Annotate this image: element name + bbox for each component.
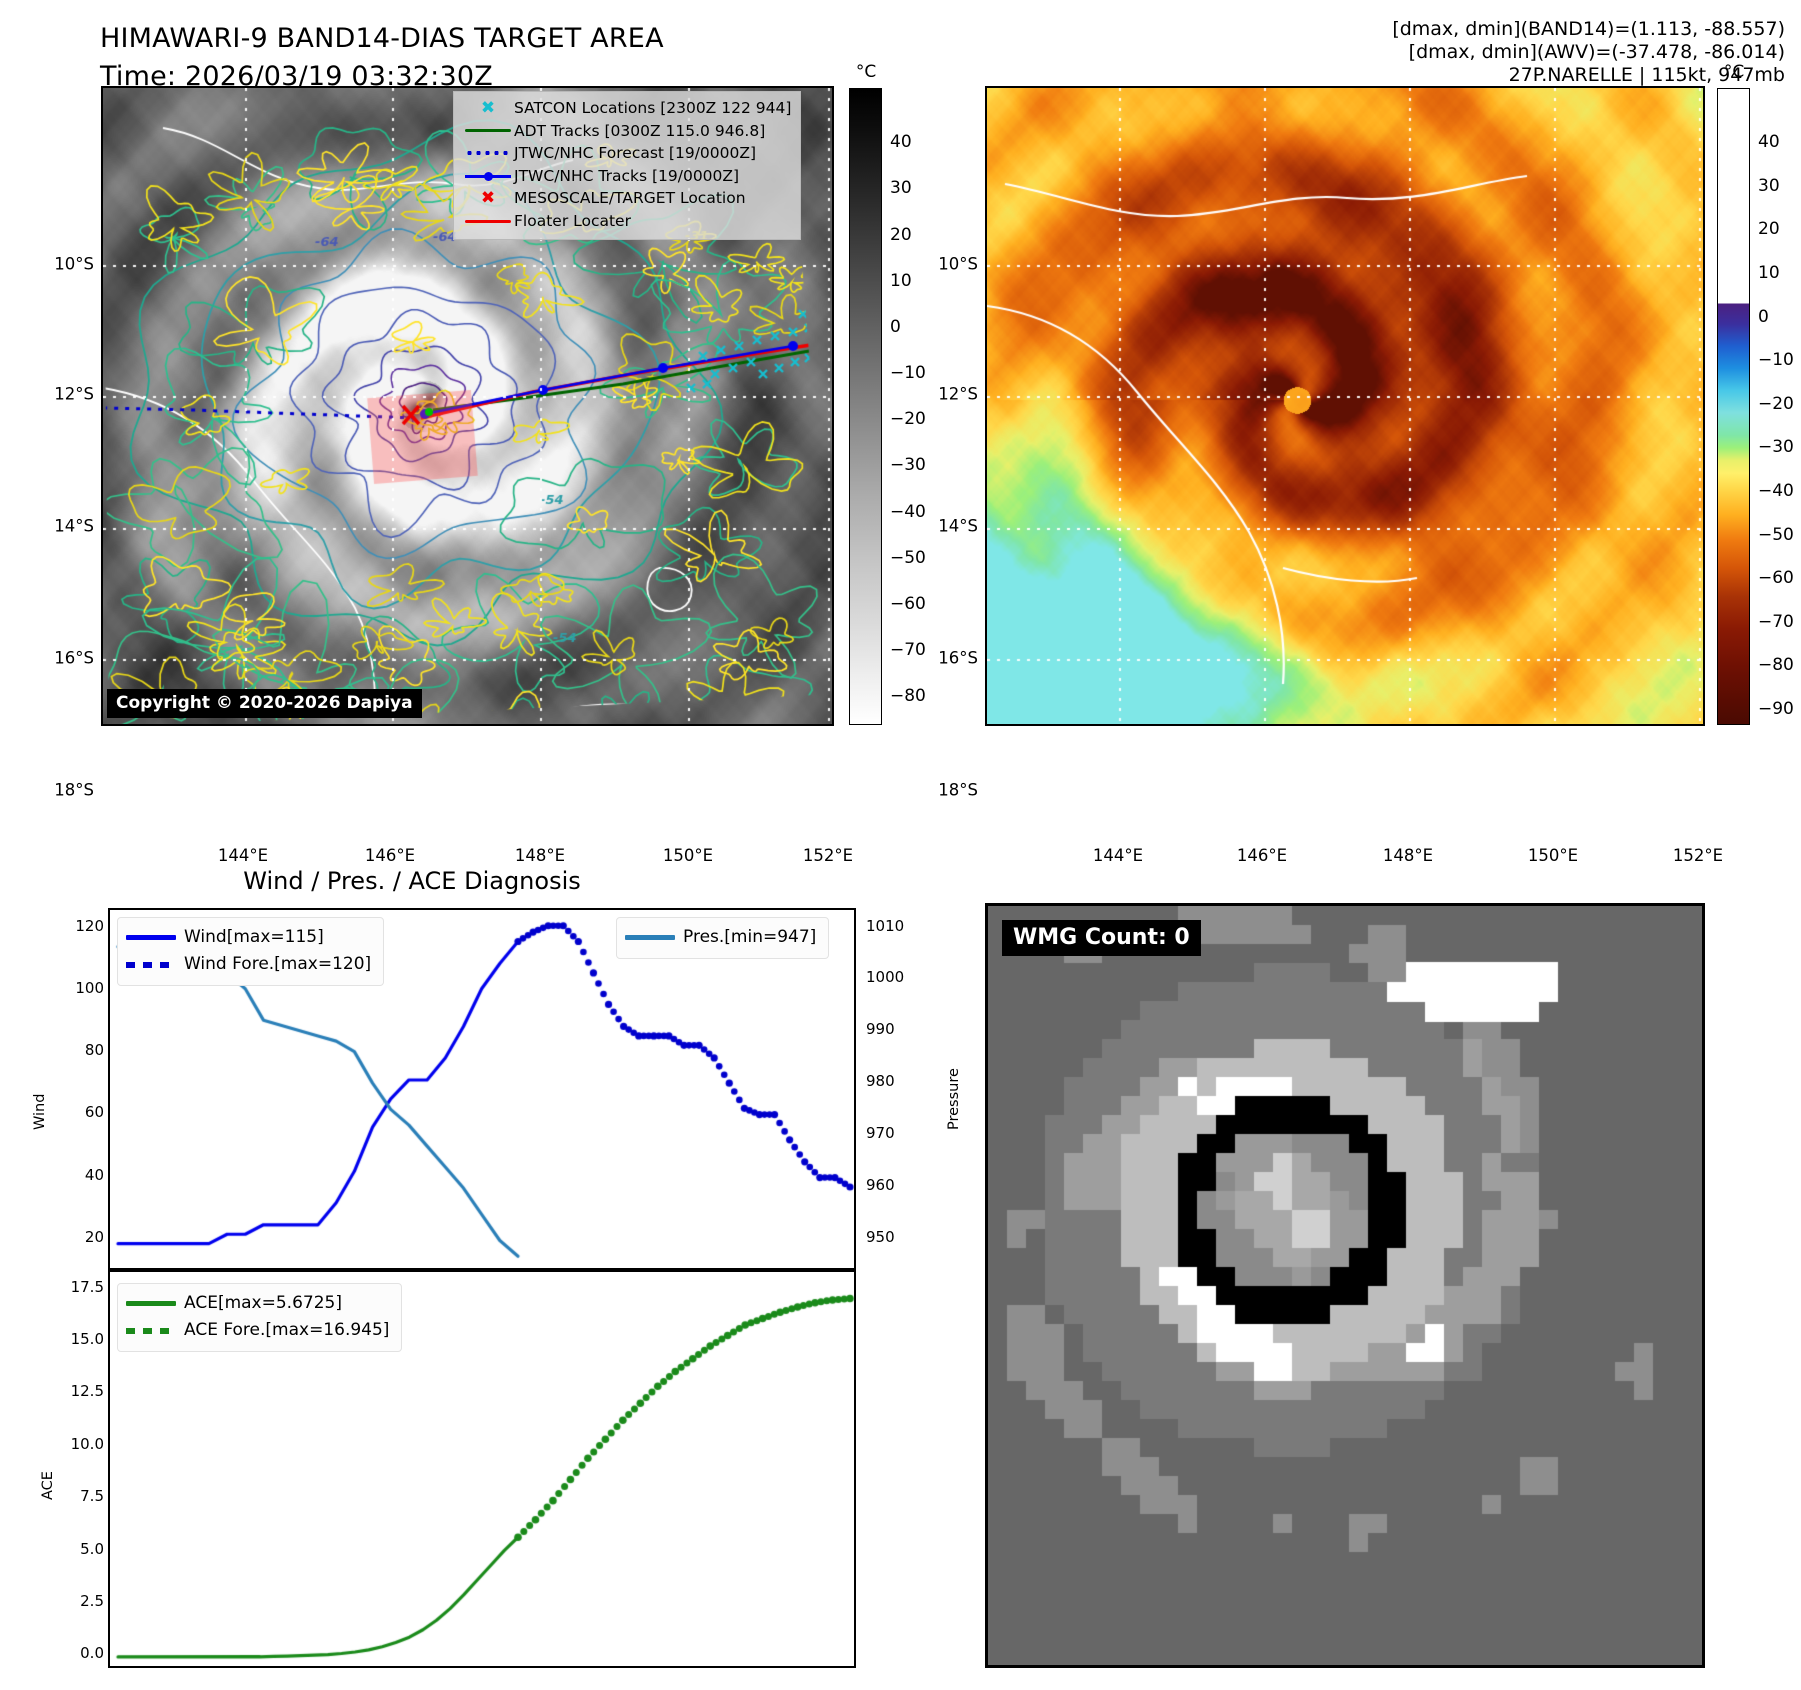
colorbar-awv (1717, 88, 1750, 725)
lon-tick-150e: 150°E (663, 846, 713, 865)
colorbar-tick: 40 (1758, 132, 1780, 152)
dotted-line-icon (126, 1328, 184, 1334)
lon-tick-144e-right: 144°E (1093, 846, 1143, 865)
colorbar-tick: 10 (890, 271, 912, 291)
legend-label: JTWC/NHC Forecast [19/0000Z] (514, 142, 756, 165)
axis-tick: 100 (48, 979, 104, 997)
legend-label: ADT Tracks [0300Z 115.0 946.8] (514, 120, 765, 143)
legend-label: Wind[max=115] (184, 924, 324, 951)
copyright-notice: Copyright © 2020-2026 Dapiya (107, 689, 422, 718)
legend-row-ace: ACE[max=5.6725] (126, 1290, 389, 1317)
colorbar-tick: 40 (890, 132, 912, 152)
lat-tick-12s: 12°S (40, 385, 94, 404)
dotted-line-icon (462, 151, 514, 155)
pressure-axis-title: Pressure (946, 1068, 962, 1130)
legend-row-mesoscale: ✖ MESOSCALE/TARGET Location (462, 187, 791, 210)
colorbar-tick: 0 (890, 317, 901, 337)
colorbar-unit-left: °C (856, 62, 876, 82)
legend-label: ACE[max=5.6725] (184, 1290, 342, 1317)
colorbar-tick: −10 (1758, 350, 1794, 370)
axis-tick: 80 (48, 1041, 104, 1059)
ace-chart-legend: ACE[max=5.6725] ACE Fore.[max=16.945] (117, 1283, 402, 1352)
page-title: HIMAWARI-9 BAND14-DIAS TARGET AREA Time:… (100, 20, 664, 96)
colorbar-tick: 20 (1758, 219, 1780, 239)
legend-row-pressure: Pres.[min=947] (625, 924, 816, 951)
legend-label: Wind Fore.[max=120] (184, 951, 371, 978)
axis-tick: 1010 (866, 917, 904, 935)
colorbar-tick: −20 (1758, 394, 1794, 414)
colorbar-tick: 10 (1758, 263, 1780, 283)
dotted-line-icon (126, 962, 184, 968)
lat-tick-16s: 16°S (40, 649, 94, 668)
axis-tick: 40 (48, 1166, 104, 1184)
lon-tick-148e: 148°E (515, 846, 565, 865)
axis-tick: 950 (866, 1228, 895, 1246)
lon-tick-150e-right: 150°E (1528, 846, 1578, 865)
legend-label: Pres.[min=947] (683, 924, 816, 951)
colorbar-tick: −40 (1758, 481, 1794, 501)
solid-line-icon (126, 1301, 184, 1306)
lon-tick-146e-right: 146°E (1237, 846, 1287, 865)
axis-tick: 20 (48, 1228, 104, 1246)
satellite-map-band14[interactable]: ✖ SATCON Locations [2300Z 122 944] ADT T… (101, 86, 834, 726)
lon-tick-146e: 146°E (365, 846, 415, 865)
wind-axis-title: Wind (32, 1094, 48, 1130)
stat-awv: [dmax, dmin](AWV)=(-37.478, -86.014) (1392, 41, 1785, 64)
solid-line-icon (625, 935, 683, 940)
lat-tick-12s-right: 12°S (924, 385, 978, 404)
legend-label: MESOSCALE/TARGET Location (514, 187, 746, 210)
axis-tick: 990 (866, 1020, 895, 1038)
axis-tick: 15.0 (48, 1330, 104, 1348)
solid-line-icon (462, 129, 514, 132)
colorbar-tick: −20 (890, 409, 926, 429)
legend-row-jtwc-tracks: JTWC/NHC Tracks [19/0000Z] (462, 165, 791, 188)
colorbar-tick: −60 (890, 594, 926, 614)
axis-tick: 2.5 (48, 1592, 104, 1610)
colorbar-tick: 0 (1758, 307, 1769, 327)
legend-row-jtwc-forecast: JTWC/NHC Forecast [19/0000Z] (462, 142, 791, 165)
wmg-imagery-canvas (988, 906, 1702, 1665)
lat-tick-10s: 10°S (40, 255, 94, 274)
line-with-dot-icon (462, 174, 514, 178)
axis-tick: 60 (48, 1103, 104, 1121)
legend-label: JTWC/NHC Tracks [19/0000Z] (514, 165, 739, 188)
colorbar-tick: −30 (1758, 437, 1794, 457)
axis-tick: 960 (866, 1176, 895, 1194)
legend-row-wind: Wind[max=115] (126, 924, 371, 951)
legend-row-satcon: ✖ SATCON Locations [2300Z 122 944] (462, 97, 791, 120)
lat-tick-16s-right: 16°S (924, 649, 978, 668)
legend-label: SATCON Locations [2300Z 122 944] (514, 97, 791, 120)
title-line: HIMAWARI-9 BAND14-DIAS TARGET AREA (100, 20, 664, 58)
colorbar-tick: −40 (890, 502, 926, 522)
colorbar-tick: −70 (890, 640, 926, 660)
colorbar-tick: −10 (890, 363, 926, 383)
axis-tick: 7.5 (48, 1487, 104, 1505)
lat-tick-14s-right: 14°S (924, 517, 978, 536)
legend-row-floater: Floater Locater (462, 210, 791, 233)
colorbar-band14 (849, 88, 882, 725)
colorbar-tick: 20 (890, 225, 912, 245)
colorbar-tick: −50 (1758, 525, 1794, 545)
colorbar-tick: 30 (890, 178, 912, 198)
axis-tick: 980 (866, 1072, 895, 1090)
x-marker-icon: ✖ (462, 190, 514, 207)
colorbar-tick: −90 (1758, 699, 1794, 719)
legend-label: ACE Fore.[max=16.945] (184, 1317, 389, 1344)
x-marker-icon: ✖ (462, 100, 514, 117)
axis-tick: 5.0 (48, 1540, 104, 1558)
axis-tick: 120 (48, 917, 104, 935)
solid-line-icon (462, 220, 514, 223)
lon-tick-152e: 152°E (803, 846, 853, 865)
colorbar-unit-right: °C (1724, 62, 1744, 82)
axis-tick: 970 (866, 1124, 895, 1142)
axis-tick: 17.5 (48, 1278, 104, 1296)
solid-line-icon (126, 935, 184, 940)
lat-tick-10s-right: 10°S (924, 255, 978, 274)
axis-tick: 12.5 (48, 1382, 104, 1400)
satellite-map-awv[interactable] (985, 86, 1705, 726)
awv-imagery-canvas (987, 88, 1705, 726)
colorbar-tick: −50 (890, 548, 926, 568)
colorbar-tick: −80 (1758, 655, 1794, 675)
axis-tick: 10.0 (48, 1435, 104, 1453)
legend-row-ace-forecast: ACE Fore.[max=16.945] (126, 1317, 389, 1344)
pressure-chart-legend: Pres.[min=947] (616, 917, 829, 959)
legend-row-wind-forecast: Wind Fore.[max=120] (126, 951, 371, 978)
stat-band14: [dmax, dmin](BAND14)=(1.113, -88.557) (1392, 18, 1785, 41)
lon-tick-152e-right: 152°E (1673, 846, 1723, 865)
wmg-count-badge: WMG Count: 0 (1002, 920, 1201, 956)
legend-row-adt: ADT Tracks [0300Z 115.0 946.8] (462, 120, 791, 143)
wmg-panel[interactable]: WMG Count: 0 (985, 903, 1705, 1668)
lon-tick-148e-right: 148°E (1383, 846, 1433, 865)
colorbar-tick: −80 (890, 686, 926, 706)
chart-supertitle: Wind / Pres. / ACE Diagnosis (243, 867, 581, 895)
axis-tick: 0.0 (48, 1644, 104, 1662)
lat-tick-14s: 14°S (40, 517, 94, 536)
ace-axis-title: ACE (40, 1471, 56, 1500)
lon-tick-144e: 144°E (218, 846, 268, 865)
colorbar-tick: −70 (1758, 612, 1794, 632)
map-legend: ✖ SATCON Locations [2300Z 122 944] ADT T… (453, 91, 801, 240)
lat-tick-18s-right: 18°S (924, 781, 978, 800)
colorbar-tick: −60 (1758, 568, 1794, 588)
wind-chart-legend: Wind[max=115] Wind Fore.[max=120] (117, 917, 384, 986)
colorbar-tick: 30 (1758, 176, 1780, 196)
colorbar-tick: −30 (890, 455, 926, 475)
legend-label: Floater Locater (514, 210, 631, 233)
axis-tick: 1000 (866, 968, 904, 986)
lat-tick-18s: 18°S (40, 781, 94, 800)
